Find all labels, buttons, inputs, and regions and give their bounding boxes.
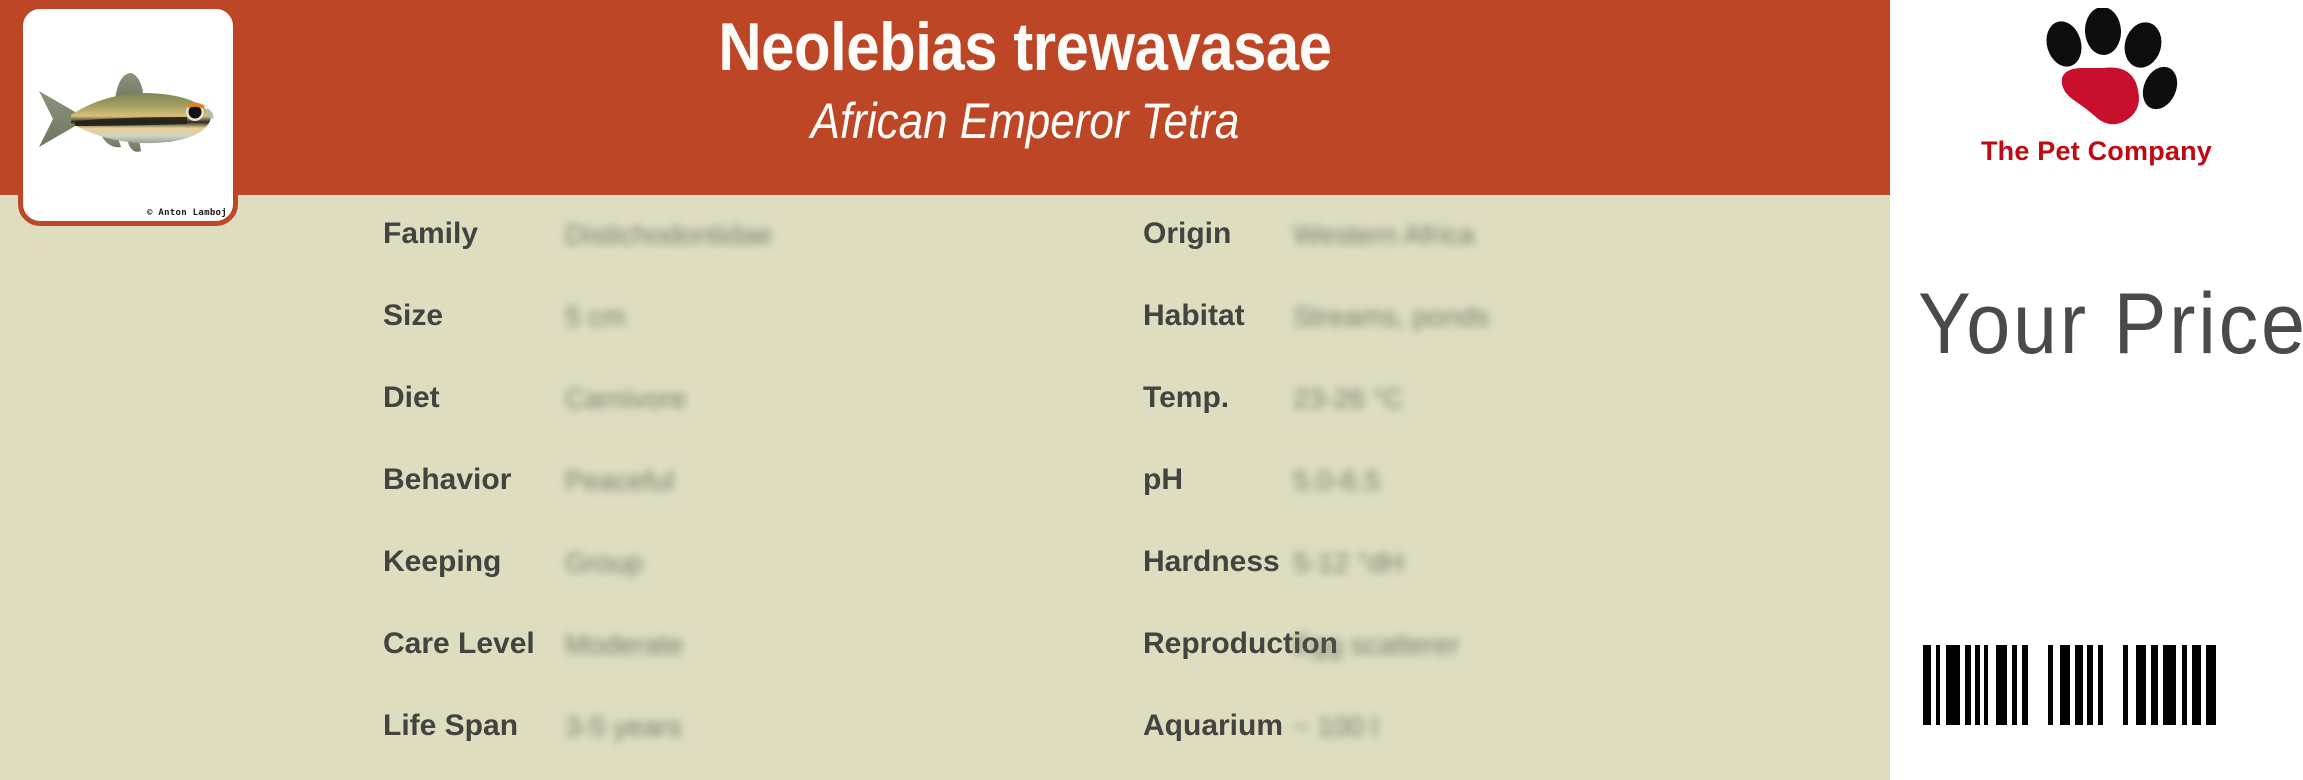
attribute-label: pH xyxy=(1143,463,1183,497)
attribute-label: Size xyxy=(383,299,443,333)
attribute-value: Group xyxy=(565,547,643,579)
attribute-value: Carnivore xyxy=(565,383,686,415)
attribute-value: 5 cm xyxy=(565,301,626,333)
barcode-bar xyxy=(1923,645,1931,725)
barcode-bar xyxy=(1988,645,1996,725)
barcode-bar xyxy=(1946,645,1960,725)
attribute-row: Temp. 23-26 °C xyxy=(1143,359,1843,441)
barcode-bar xyxy=(2192,645,2201,725)
attribute-row: Hardness 5-12 °dH xyxy=(1143,523,1843,605)
attribute-label: Habitat xyxy=(1143,299,1245,333)
attribute-row: Size 5 cm xyxy=(383,277,1083,359)
attribute-label: Diet xyxy=(383,381,440,415)
attribute-value: Distichodontidae xyxy=(565,219,772,251)
attribute-label: Keeping xyxy=(383,545,501,579)
attribute-label: Behavior xyxy=(383,463,511,497)
attribute-row: Diet Carnivore xyxy=(383,359,1083,441)
barcode-bar xyxy=(2060,645,2070,725)
attribute-value: 3-5 years xyxy=(565,711,682,743)
paw-print-icon xyxy=(2027,8,2187,136)
attribute-row: Life Span 3-5 years xyxy=(383,687,1083,769)
attribute-label: Temp. xyxy=(1143,381,1229,415)
attribute-row: Care Level Moderate xyxy=(383,605,1083,687)
attribute-column-right: Origin Western Africa Habitat Streams, p… xyxy=(1143,195,1843,769)
attribute-column-left: Family Distichodontidae Size 5 cm Diet C… xyxy=(383,195,1083,769)
barcode-bar xyxy=(2136,645,2146,725)
brand-logo: The Pet Company xyxy=(1890,8,2303,198)
attribute-label: Life Span xyxy=(383,709,518,743)
attribute-row: Keeping Group xyxy=(383,523,1083,605)
barcode-bar xyxy=(2028,645,2048,725)
price-panel: The Pet Company Your Price xyxy=(1890,0,2303,780)
attribute-value: ~ 100 l xyxy=(1293,711,1378,743)
price-label: Your Price xyxy=(1918,278,2303,370)
attribute-row: Behavior Peaceful xyxy=(383,441,1083,523)
attribute-value: 23-26 °C xyxy=(1293,383,1404,415)
attribute-row: Family Distichodontidae xyxy=(383,195,1083,277)
attribute-value: 5.0-6.5 xyxy=(1293,465,1380,497)
attribute-value: Peaceful xyxy=(565,465,674,497)
attribute-value: 5-12 °dH xyxy=(1293,547,1404,579)
attribute-value: Streams, ponds xyxy=(1293,301,1489,333)
barcode-bar xyxy=(2103,645,2123,725)
attribute-row: Habitat Streams, ponds xyxy=(1143,277,1843,359)
fish-illustration-icon xyxy=(31,51,231,181)
attribute-row: Reproduction Egg scatterer xyxy=(1143,605,1843,687)
attribute-row: Origin Western Africa xyxy=(1143,195,1843,277)
attribute-row: Aquarium ~ 100 l xyxy=(1143,687,1843,769)
barcode xyxy=(1923,645,2216,725)
attribute-label: Aquarium xyxy=(1143,709,1283,743)
attribute-value: Western Africa xyxy=(1293,219,1475,251)
barcode-bar xyxy=(1996,645,2007,725)
brand-name: The Pet Company xyxy=(1890,136,2303,167)
barcode-bar xyxy=(2075,645,2083,725)
attribute-value: Egg scatterer xyxy=(1293,629,1460,661)
barcode-bar xyxy=(2053,645,2060,725)
pet-shop-species-card: Neolebias trewavasae African Emperor Tet… xyxy=(0,0,2303,780)
attribute-value: Moderate xyxy=(565,629,683,661)
attribute-grid: Family Distichodontidae Size 5 cm Diet C… xyxy=(0,195,1890,780)
species-info-panel: Neolebias trewavasae African Emperor Tet… xyxy=(0,0,1890,780)
attribute-label: Origin xyxy=(1143,217,1231,251)
attribute-row: pH 5.0-6.5 xyxy=(1143,441,1843,523)
barcode-bar xyxy=(2206,645,2216,725)
attribute-label: Care Level xyxy=(383,627,535,661)
barcode-bar xyxy=(2151,645,2158,725)
barcode-bar xyxy=(2128,645,2136,725)
barcode-bar xyxy=(2163,645,2176,725)
header-band xyxy=(0,0,1890,195)
attribute-label: Family xyxy=(383,217,478,251)
attribute-label: Hardness xyxy=(1143,545,1280,579)
species-photo-frame: © Anton Lamboj xyxy=(18,4,238,226)
